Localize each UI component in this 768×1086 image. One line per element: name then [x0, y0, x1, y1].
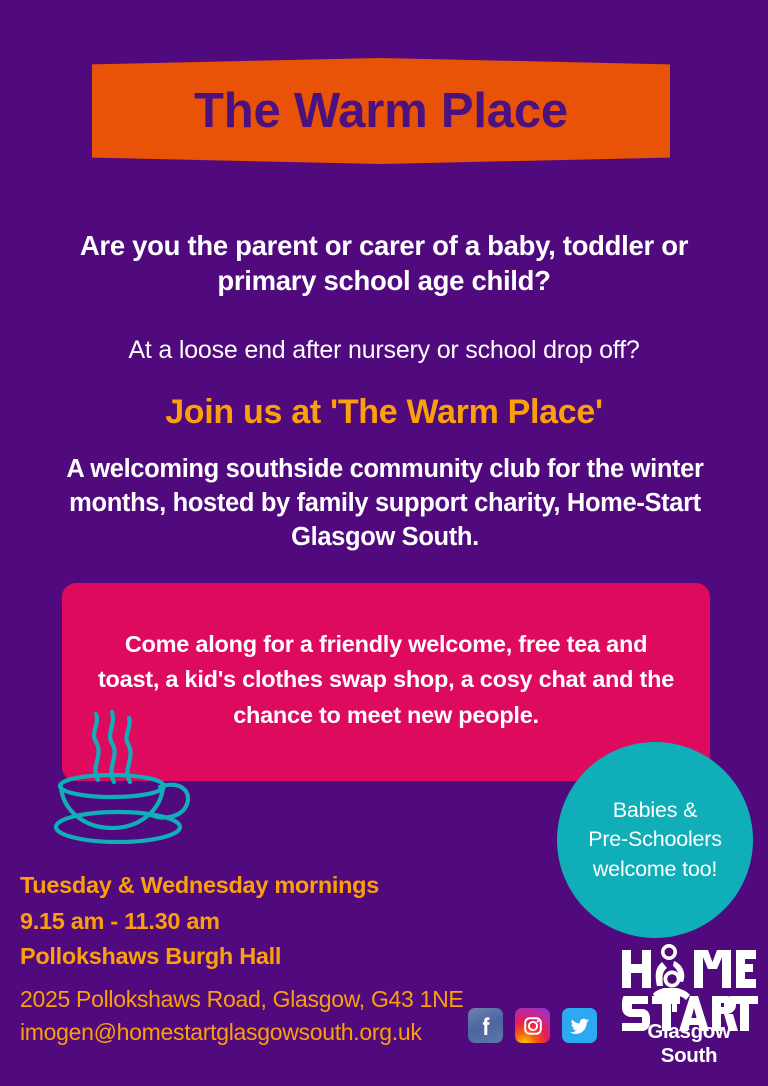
social-links [468, 1008, 597, 1043]
intro-question-line-2: primary school age child? [34, 263, 734, 298]
description-paragraph: A welcoming southside community club for… [40, 452, 730, 554]
description-line-1: A welcoming southside community club for… [40, 452, 730, 486]
audience-badge-line-1: Babies & [588, 796, 722, 826]
session-times: 9.15 am - 11.30 am [20, 904, 480, 940]
contact-details: 2025 Pollokshaws Road, Glasgow, G43 1NE … [20, 983, 490, 1049]
audience-badge: Babies & Pre-Schoolers welcome too! [557, 742, 753, 938]
contact-address: 2025 Pollokshaws Road, Glasgow, G43 1NE [20, 983, 490, 1016]
facebook-icon[interactable] [468, 1008, 503, 1043]
intro-question-line-1: Are you the parent or carer of a baby, t… [34, 228, 734, 263]
description-line-3: Glasgow South. [40, 520, 730, 554]
audience-badge-line-3: welcome too! [588, 855, 722, 885]
poster-canvas: The Warm Place Are you the parent or car… [0, 0, 768, 1086]
header-banner: The Warm Place [92, 58, 670, 164]
intro-question: Are you the parent or carer of a baby, t… [34, 228, 734, 298]
highlight-line-2: toast, a kid's clothes swap shop, a cosy… [92, 662, 680, 697]
description-line-2: months, hosted by family support charity… [40, 486, 730, 520]
logo-home-text [622, 950, 756, 988]
logo-strapline: Glasgow South [618, 1020, 760, 1068]
audience-badge-line-2: Pre-Schoolers [588, 825, 722, 855]
intro-sub-question: At a loose end after nursery or school d… [34, 334, 734, 367]
highlight-line-1: Come along for a friendly welcome, free … [92, 627, 680, 662]
session-details: Tuesday & Wednesday mornings 9.15 am - 1… [20, 868, 480, 975]
session-days: Tuesday & Wednesday mornings [20, 868, 480, 904]
twitter-icon[interactable] [562, 1008, 597, 1043]
audience-badge-text: Babies & Pre-Schoolers welcome too! [588, 796, 722, 885]
poster-title: The Warm Place [92, 58, 670, 164]
contact-email[interactable]: imogen@homestartglasgowsouth.org.uk [20, 1016, 490, 1049]
instagram-icon[interactable] [515, 1008, 550, 1043]
teacup-with-steam-icon [50, 694, 210, 844]
join-heading: Join us at 'The Warm Place' [34, 392, 734, 433]
session-venue: Pollokshaws Burgh Hall [20, 939, 480, 975]
